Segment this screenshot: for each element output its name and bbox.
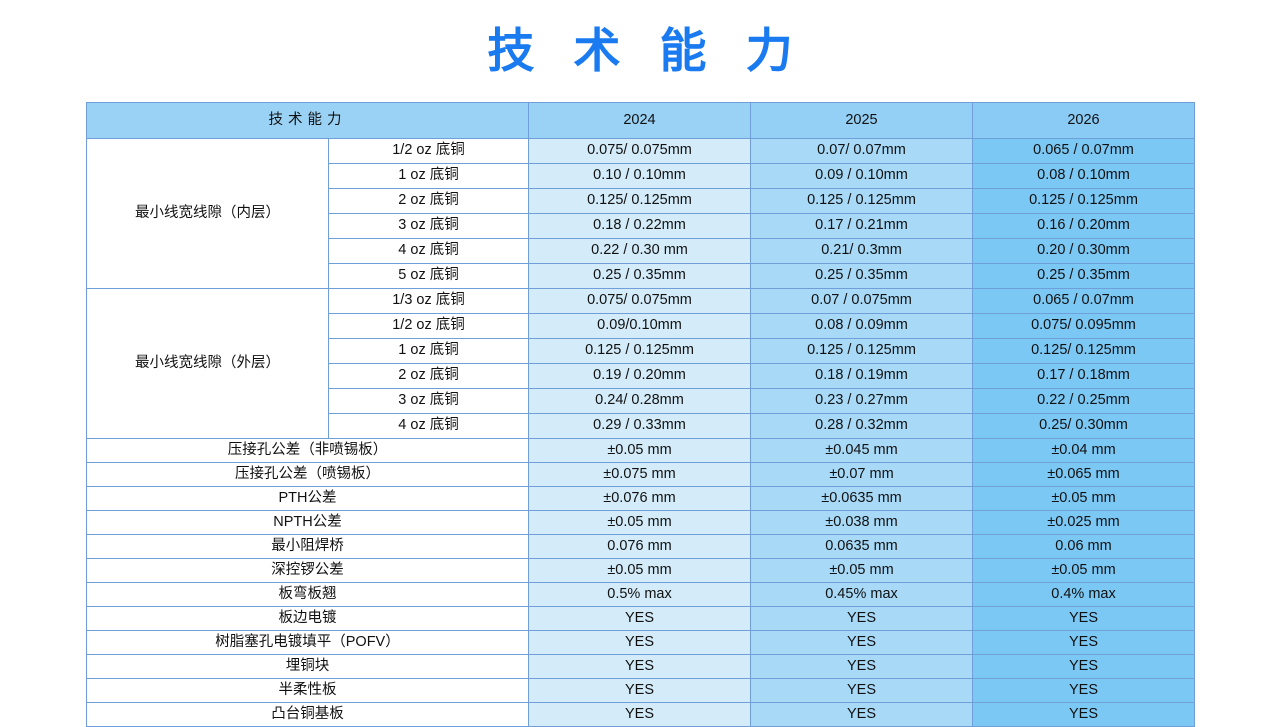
row-sub-label: 3 oz 底铜 [329, 214, 529, 239]
table-row: 压接孔公差（非喷锡板）±0.05 mm±0.045 mm±0.04 mm [87, 439, 1195, 463]
cell-2024: YES [529, 607, 751, 631]
cell-2026: 0.125 / 0.125mm [973, 189, 1195, 214]
row-label: 凸台铜基板 [87, 703, 529, 727]
table-body: 最小线宽线隙（内层）1/2 oz 底铜0.075/ 0.075mm0.07/ 0… [87, 139, 1195, 727]
table-row: 最小线宽线隙（外层）1/3 oz 底铜0.075/ 0.075mm0.07 / … [87, 289, 1195, 314]
cell-2025: 0.18 / 0.19mm [751, 364, 973, 389]
cell-2026: 0.065 / 0.07mm [973, 289, 1195, 314]
cell-2026: 0.06 mm [973, 535, 1195, 559]
cell-2026: YES [973, 703, 1195, 727]
cell-2025: 0.09 / 0.10mm [751, 164, 973, 189]
cell-2025: 0.23 / 0.27mm [751, 389, 973, 414]
row-label: 板弯板翘 [87, 583, 529, 607]
cell-2026: 0.08 / 0.10mm [973, 164, 1195, 189]
cell-2025: 0.125 / 0.125mm [751, 189, 973, 214]
cell-2026: ±0.05 mm [973, 487, 1195, 511]
cell-2024: YES [529, 703, 751, 727]
row-sub-label: 4 oz 底铜 [329, 414, 529, 439]
header-capability: 技术能力 [87, 103, 529, 139]
cell-2025: YES [751, 679, 973, 703]
cell-2026: ±0.04 mm [973, 439, 1195, 463]
cell-2025: YES [751, 655, 973, 679]
row-sub-label: 1 oz 底铜 [329, 339, 529, 364]
header-year-2025: 2025 [751, 103, 973, 139]
cell-2026: 0.25 / 0.35mm [973, 264, 1195, 289]
row-label: 半柔性板 [87, 679, 529, 703]
cell-2024: 0.075/ 0.075mm [529, 139, 751, 164]
table-row: 埋铜块YESYESYES [87, 655, 1195, 679]
row-group-label: 最小线宽线隙（内层） [87, 139, 329, 289]
cell-2024: YES [529, 631, 751, 655]
row-sub-label: 1/2 oz 底铜 [329, 314, 529, 339]
cell-2026: 0.4% max [973, 583, 1195, 607]
cell-2026: 0.125/ 0.125mm [973, 339, 1195, 364]
cell-2025: 0.07/ 0.07mm [751, 139, 973, 164]
cell-2024: ±0.05 mm [529, 511, 751, 535]
row-label: 压接孔公差（非喷锡板） [87, 439, 529, 463]
cell-2024: ±0.05 mm [529, 559, 751, 583]
cell-2026: 0.17 / 0.18mm [973, 364, 1195, 389]
row-label: 树脂塞孔电镀填平（POFV） [87, 631, 529, 655]
cell-2024: 0.29 / 0.33mm [529, 414, 751, 439]
cell-2025: 0.21/ 0.3mm [751, 239, 973, 264]
cell-2024: 0.24/ 0.28mm [529, 389, 751, 414]
cell-2024: 0.5% max [529, 583, 751, 607]
row-label: 最小阻焊桥 [87, 535, 529, 559]
cell-2024: 0.09/0.10mm [529, 314, 751, 339]
table-row: 板弯板翘0.5% max0.45% max0.4% max [87, 583, 1195, 607]
cell-2025: 0.08 / 0.09mm [751, 314, 973, 339]
table-header-row: 技术能力 2024 2025 2026 [87, 103, 1195, 139]
cell-2024: YES [529, 655, 751, 679]
cell-2026: YES [973, 607, 1195, 631]
cell-2026: YES [973, 679, 1195, 703]
cell-2026: YES [973, 655, 1195, 679]
cell-2025: ±0.05 mm [751, 559, 973, 583]
row-sub-label: 3 oz 底铜 [329, 389, 529, 414]
cell-2026: 0.065 / 0.07mm [973, 139, 1195, 164]
cell-2026: 0.16 / 0.20mm [973, 214, 1195, 239]
row-label: 板边电镀 [87, 607, 529, 631]
row-label: 埋铜块 [87, 655, 529, 679]
row-sub-label: 4 oz 底铜 [329, 239, 529, 264]
cell-2025: 0.28 / 0.32mm [751, 414, 973, 439]
table-row: 半柔性板YESYESYES [87, 679, 1195, 703]
cell-2026: YES [973, 631, 1195, 655]
header-year-2026: 2026 [973, 103, 1195, 139]
page-title: 技 术 能 力 [0, 22, 1280, 80]
table-row: 最小线宽线隙（内层）1/2 oz 底铜0.075/ 0.075mm0.07/ 0… [87, 139, 1195, 164]
row-group-label: 最小线宽线隙（外层） [87, 289, 329, 439]
cell-2026: 0.20 / 0.30mm [973, 239, 1195, 264]
cell-2024: 0.18 / 0.22mm [529, 214, 751, 239]
cell-2024: 0.125 / 0.125mm [529, 339, 751, 364]
cell-2025: 0.0635 mm [751, 535, 973, 559]
cell-2024: 0.25 / 0.35mm [529, 264, 751, 289]
cell-2025: 0.45% max [751, 583, 973, 607]
cell-2026: ±0.025 mm [973, 511, 1195, 535]
cell-2024: ±0.075 mm [529, 463, 751, 487]
table-row: 树脂塞孔电镀填平（POFV）YESYESYES [87, 631, 1195, 655]
cell-2024: 0.075/ 0.075mm [529, 289, 751, 314]
cell-2026: ±0.065 mm [973, 463, 1195, 487]
cell-2025: ±0.0635 mm [751, 487, 973, 511]
cell-2026: 0.075/ 0.095mm [973, 314, 1195, 339]
table-row: 压接孔公差（喷锡板）±0.075 mm±0.07 mm±0.065 mm [87, 463, 1195, 487]
header-year-2024: 2024 [529, 103, 751, 139]
table-row: PTH公差±0.076 mm±0.0635 mm±0.05 mm [87, 487, 1195, 511]
cell-2024: 0.19 / 0.20mm [529, 364, 751, 389]
cell-2024: 0.076 mm [529, 535, 751, 559]
cell-2025: ±0.038 mm [751, 511, 973, 535]
table-row: 凸台铜基板YESYESYES [87, 703, 1195, 727]
cell-2024: 0.10 / 0.10mm [529, 164, 751, 189]
table-row: 最小阻焊桥0.076 mm0.0635 mm0.06 mm [87, 535, 1195, 559]
row-label: PTH公差 [87, 487, 529, 511]
row-sub-label: 2 oz 底铜 [329, 189, 529, 214]
technical-capability-table: 技术能力 2024 2025 2026 最小线宽线隙（内层）1/2 oz 底铜0… [86, 102, 1195, 727]
cell-2024: ±0.076 mm [529, 487, 751, 511]
cell-2024: 0.125/ 0.125mm [529, 189, 751, 214]
cell-2025: YES [751, 703, 973, 727]
cell-2024: ±0.05 mm [529, 439, 751, 463]
cell-2026: 0.25/ 0.30mm [973, 414, 1195, 439]
row-sub-label: 2 oz 底铜 [329, 364, 529, 389]
cell-2024: YES [529, 679, 751, 703]
row-sub-label: 1 oz 底铜 [329, 164, 529, 189]
table-row: NPTH公差±0.05 mm±0.038 mm±0.025 mm [87, 511, 1195, 535]
row-sub-label: 1/3 oz 底铜 [329, 289, 529, 314]
row-sub-label: 5 oz 底铜 [329, 264, 529, 289]
cell-2024: 0.22 / 0.30 mm [529, 239, 751, 264]
table-row: 深控锣公差±0.05 mm±0.05 mm±0.05 mm [87, 559, 1195, 583]
cell-2025: YES [751, 607, 973, 631]
cell-2025: ±0.045 mm [751, 439, 973, 463]
cell-2025: YES [751, 631, 973, 655]
row-sub-label: 1/2 oz 底铜 [329, 139, 529, 164]
row-label: 深控锣公差 [87, 559, 529, 583]
cell-2025: 0.125 / 0.125mm [751, 339, 973, 364]
cell-2026: ±0.05 mm [973, 559, 1195, 583]
row-label: 压接孔公差（喷锡板） [87, 463, 529, 487]
cell-2026: 0.22 / 0.25mm [973, 389, 1195, 414]
table-row: 板边电镀YESYESYES [87, 607, 1195, 631]
cell-2025: 0.25 / 0.35mm [751, 264, 973, 289]
cell-2025: 0.17 / 0.21mm [751, 214, 973, 239]
cell-2025: 0.07 / 0.075mm [751, 289, 973, 314]
cell-2025: ±0.07 mm [751, 463, 973, 487]
row-label: NPTH公差 [87, 511, 529, 535]
